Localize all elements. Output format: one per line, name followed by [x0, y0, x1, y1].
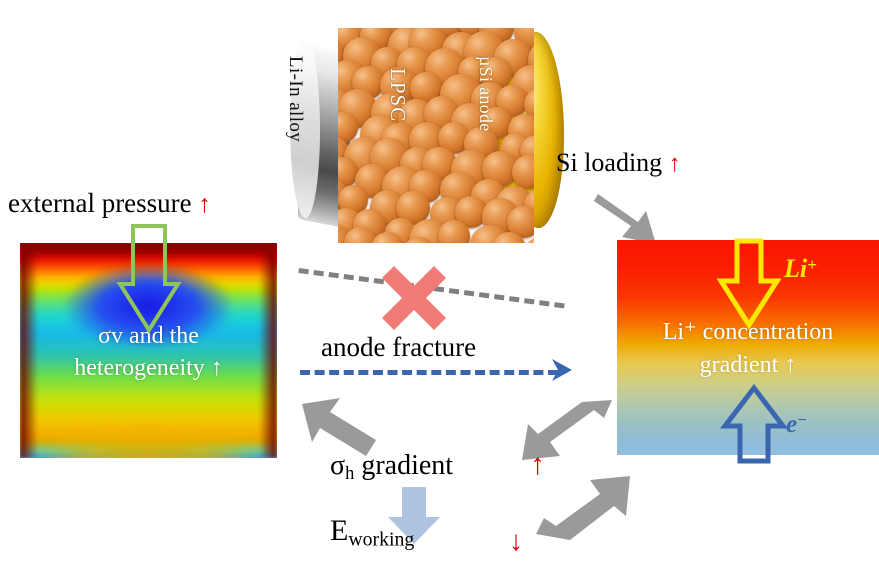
li-ion-text: Li — [784, 254, 807, 283]
si-loading-up-arrow: ↑ — [669, 151, 681, 177]
e-working-subscript: working — [348, 529, 414, 551]
working-potential-label: Eworking — [330, 516, 414, 550]
anode-fracture-arrowhead-icon — [552, 358, 578, 384]
external-pressure-up-arrow: ↑ — [198, 191, 211, 218]
heatmap-left-line2: heterogeneity ↑ — [20, 353, 277, 385]
battery-cell-illustration: Li-In alloy LPSC µSi anode — [292, 22, 592, 232]
electron-label: e− — [786, 412, 807, 437]
heterogeneity-text: heterogeneity — [74, 355, 205, 381]
li-ion-superscript: + — [807, 255, 817, 274]
si-loading-text: Si loading — [556, 148, 662, 177]
anode-fracture-dashed-arrow-line — [300, 370, 558, 375]
e-working-symbol: E — [330, 514, 348, 547]
arrow-from-working-potential-to-concentration — [530, 474, 640, 546]
lpsc-electrolyte-particles — [338, 28, 534, 243]
heterogeneity-up-arrow: ↑ — [211, 355, 223, 381]
figure-canvas: Li-In alloy LPSC µSi anode Si loading ↑ … — [0, 0, 879, 586]
arrow-si-loading-to-concentration — [594, 188, 674, 248]
anode-fracture-label: anode fracture — [321, 334, 476, 361]
electron-text: e — [786, 411, 797, 438]
external-pressure-text: external pressure — [8, 188, 192, 218]
blue-hollow-up-arrow-icon — [723, 388, 787, 464]
external-pressure-label: external pressure ↑ — [8, 190, 211, 217]
green-hollow-down-arrow-icon — [118, 226, 180, 336]
sigma-h-up-arrow: ↑ — [530, 450, 545, 480]
sigma-h-symbol: σ — [330, 450, 345, 481]
electron-superscript: − — [797, 410, 807, 429]
red-x-blocked-icon — [382, 266, 446, 330]
li-in-alloy-label: Li-In alloy — [284, 56, 306, 216]
heatmap-right-line2: gradient ↑ — [617, 349, 879, 382]
e-working-down-arrow: ↓ — [509, 528, 523, 556]
yellow-hollow-down-arrow-icon — [719, 241, 787, 329]
sigma-v-symbol: σ — [98, 323, 111, 349]
gradient-text: gradient — [700, 352, 779, 378]
sigma-h-gradient-label: σh gradient — [330, 452, 453, 483]
li-ion-label: Li+ — [784, 256, 817, 282]
si-loading-label: Si loading ↑ — [556, 150, 681, 176]
gradient-up-arrow: ↑ — [784, 352, 796, 378]
lpsc-label: LPSC — [385, 68, 410, 122]
sigma-h-gradient-text: gradient — [354, 450, 453, 481]
usi-anode-label: µSi anode — [475, 56, 496, 132]
sigma-h-subscript: h — [345, 463, 354, 483]
